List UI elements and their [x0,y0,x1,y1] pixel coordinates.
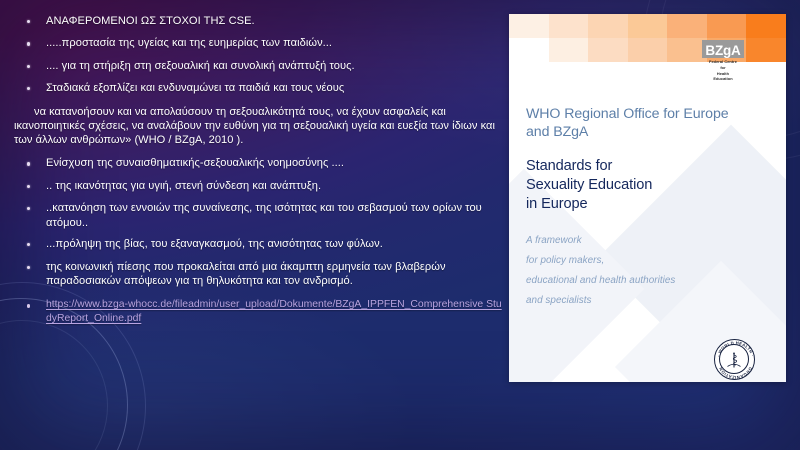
cover-subtitle-line: educational and health authorities [526,271,776,291]
book-cover-image: BZgA Federal Centre for Health Education… [509,14,786,382]
orange-banner-row-top [509,14,786,38]
cover-subtitle: A framework for policy makers, education… [526,231,776,311]
cover-publisher-line: WHO Regional Office for Europe and BZgA [526,106,776,142]
bzga-study-report-link[interactable]: https://www.bzga-whocc.de/fileadmin/user… [46,298,502,325]
list-item: ...πρόληψη της βίας, του εξαναγκασμού, τ… [14,237,502,251]
bzga-subtitle-line: Education [702,76,744,82]
cover-subtitle-line: and specialists [526,291,776,311]
cover-orange-banner [509,14,786,62]
list-item: .. της ικανότητας για υγιή, στενή σύνδεσ… [14,179,502,193]
bzga-logo-subtitle: Federal Centre for Health Education [702,59,744,82]
source-link-row[interactable]: https://www.bzga-whocc.de/fileadmin/user… [14,298,502,325]
slide-canvas: ΑΝΑΦΕΡΟΜΕΝΟΙ ΩΣ ΣΤΟΧΟΙ ΤΗΣ CSE. .....προ… [0,0,800,450]
cover-publisher-line-1: WHO Regional Office for Europe [526,106,776,124]
cover-title-line: Standards for [526,157,776,176]
svg-text:ORGANIZATION: ORGANIZATION [717,366,752,380]
bullet-text-column: ΑΝΑΦΕΡΟΜΕΝΟΙ ΩΣ ΣΤΟΧΟΙ ΤΗΣ CSE. .....προ… [14,14,502,402]
bzga-logo-word: BZgA [705,44,740,59]
who-emblem-icon: · WORLD HEALTH · ORGANIZATION [714,339,755,380]
list-item: ..κατανόηση των εννοιών της συναίνεσης, … [14,201,502,230]
cover-publisher-line-2: and BZgA [526,124,776,142]
list-item: της κοινωνική πίεσης που προκαλείται από… [14,260,502,289]
list-item: Ενίσχυση της συναισθηματικής-σεξουαλικής… [14,156,502,170]
cover-title-line: Sexuality Education [526,176,776,195]
cover-subtitle-line: for policy makers, [526,251,776,271]
cover-text-block: WHO Regional Office for Europe and BZgA … [526,106,776,311]
who-europe-logo: · WORLD HEALTH · ORGANIZATION EUROPE [705,339,763,382]
list-item: .....προστασία της υγείας και της ευημερ… [14,36,502,50]
quote-paragraph: να κατανοήσουν και να απολαύσουν τη σεξο… [14,105,502,148]
orange-banner-row-bottom [509,38,786,62]
who-rod-of-asclepius-icon [727,351,742,368]
bzga-logo: BZgA [702,40,744,58]
cover-title: Standards for Sexuality Education in Eur… [526,157,776,214]
cover-subtitle-line: A framework [526,231,776,251]
list-item: ΑΝΑΦΕΡΟΜΕΝΟΙ ΩΣ ΣΤΟΧΟΙ ΤΗΣ CSE. [14,14,502,28]
list-item: .... για τη στήριξη στη σεξουαλική και σ… [14,59,502,73]
list-item: Σταδιακά εξοπλίζει και ενδυναμώνει τα πα… [14,81,502,95]
cover-title-line: in Europe [526,195,776,214]
